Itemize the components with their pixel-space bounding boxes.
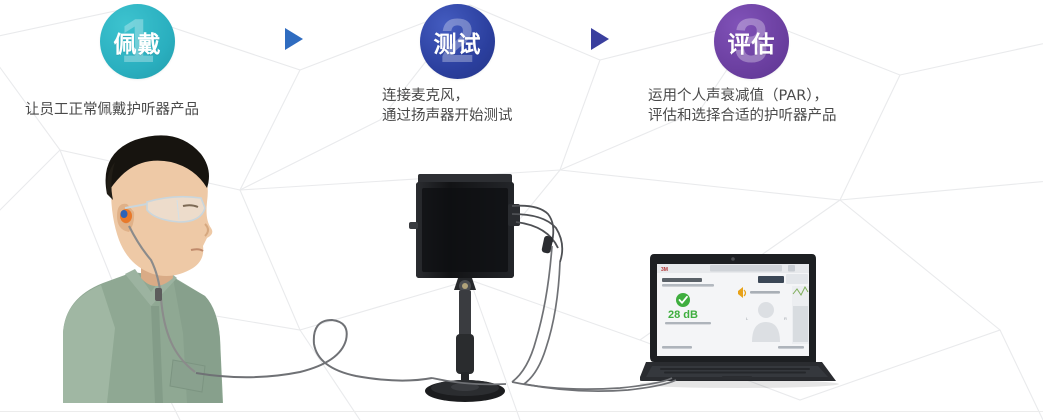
- step-caption-2: 连接麦克风， 通过扬声器开始测试: [382, 86, 642, 126]
- bottom-divider: [0, 411, 1043, 412]
- speaker-on-tripod-photo: [400, 160, 550, 405]
- laptop-photo: 3M 28 dB L R: [640, 250, 855, 395]
- arrow-step-1-to-2: [285, 28, 303, 50]
- laptop-screen-par-value: 28 dB: [668, 309, 698, 321]
- svg-text:R: R: [784, 316, 787, 321]
- step-badge-3[interactable]: 3 评估: [714, 4, 789, 79]
- step-label-1: 佩戴: [114, 25, 162, 59]
- step-caption-3: 运用个人声衰减值（PAR）， 评估和选择合适的护听器产品: [648, 86, 948, 126]
- step-badge-1[interactable]: 1 佩戴: [100, 4, 175, 79]
- laptop-screen-check-circle-icon: [676, 293, 690, 307]
- laptop-screen-brand: 3M: [661, 267, 668, 273]
- worker-photo: [55, 128, 255, 403]
- infographic-canvas: 1 佩戴 让员工正常佩戴护听器产品 2 测试 连接麦克风， 通过扬声器开始测试 …: [0, 0, 1043, 420]
- step-badge-2[interactable]: 2 测试: [420, 4, 495, 79]
- step-label-2: 测试: [434, 25, 482, 59]
- arrow-step-2-to-3: [591, 28, 609, 50]
- step-label-3: 评估: [728, 25, 776, 59]
- step-caption-1: 让员工正常佩戴护听器产品: [25, 100, 275, 120]
